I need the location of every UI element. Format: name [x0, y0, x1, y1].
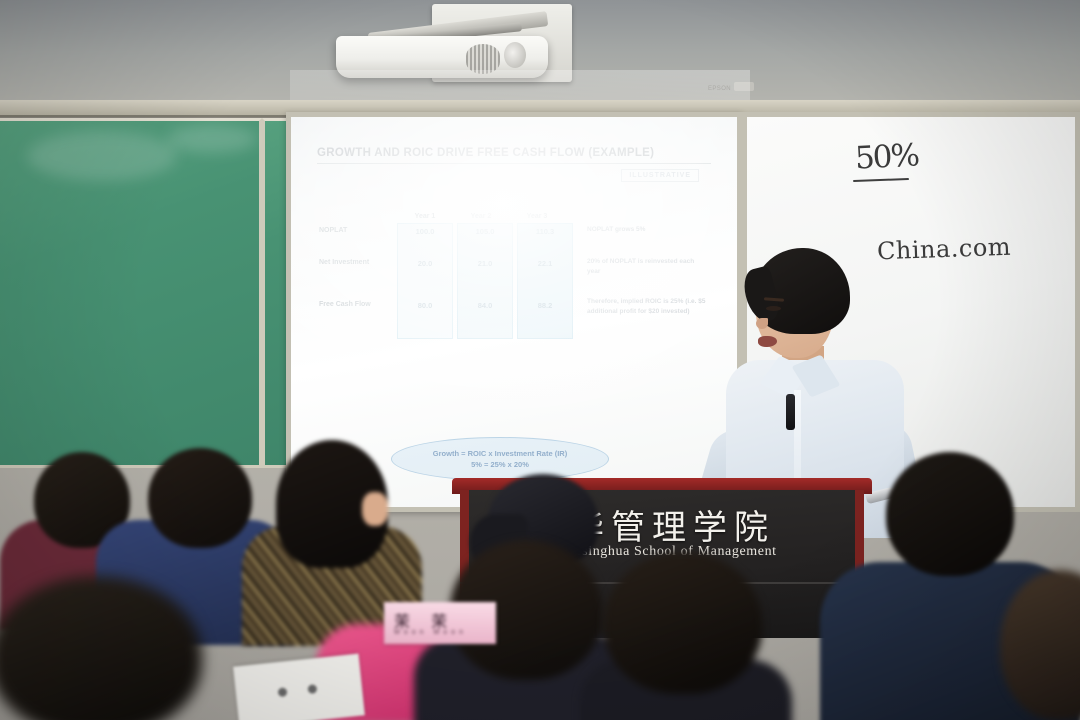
- cell-noplat-year2: 105.0: [457, 227, 513, 236]
- chalkboard-left: [0, 118, 262, 468]
- lecturer-eye: [766, 306, 781, 311]
- lecturer-nose: [756, 318, 768, 329]
- cell-netinv-year1: 20.0: [397, 259, 453, 268]
- audience-member-far-right: [1000, 570, 1080, 720]
- slide-table: Year 1 Year 2 Year 3 NOPLAT 100.0 105.0 …: [319, 213, 714, 329]
- name-card-english: Moon Moon: [394, 629, 467, 636]
- callout-line-1: Growth = ROIC x Investment Rate (IR): [433, 448, 567, 459]
- desk-name-card: 茉 茉 Moon Moon: [384, 602, 496, 644]
- table-row: Free Cash Flow 80.0 84.0 88.2 Therefore,…: [319, 287, 714, 329]
- column-header-year2: Year 2: [453, 213, 509, 220]
- note-free-cash-flow: Therefore, implied ROIC is 25% (i.e. $5 …: [587, 297, 707, 317]
- audience-hand: [362, 492, 388, 526]
- whiteboard-underline: [853, 178, 909, 182]
- cell-netinv-year3: 22.1: [517, 259, 573, 268]
- row-label-noplat: NOPLAT: [319, 227, 393, 234]
- table-row: Net Investment 20.0 21.0 22.1 20% of NOP…: [319, 255, 714, 287]
- audience-head: [604, 552, 762, 694]
- cell-fcf-year3: 88.2: [517, 301, 573, 310]
- note-noplat: NOPLAT grows 5%: [587, 225, 707, 235]
- cell-noplat-year1: 100.0: [397, 227, 453, 236]
- cell-fcf-year2: 84.0: [457, 301, 513, 310]
- whiteboard-note-percent: 50%: [854, 137, 919, 176]
- lapel-microphone-icon: [786, 394, 795, 430]
- table-row: NOPLAT 100.0 105.0 110.3 NOPLAT grows 5%: [319, 223, 714, 255]
- column-header-year3: Year 3: [509, 213, 565, 220]
- chalk-smudge: [27, 131, 177, 181]
- row-label-net-investment: Net Investment: [319, 259, 393, 266]
- hole-punch-icon: [278, 687, 288, 697]
- projector-panel: [734, 82, 754, 91]
- lecture-hall-photo: EPSON GROWTH AND ROIC DRIVE FREE CASH FL…: [0, 0, 1080, 720]
- row-label-free-cash-flow: Free Cash Flow: [319, 301, 393, 308]
- slide-table-header-row: Year 1 Year 2 Year 3: [319, 213, 714, 220]
- column-header-year1: Year 1: [397, 213, 453, 220]
- audience-head: [0, 576, 202, 720]
- projector-vent-icon: [466, 44, 500, 74]
- cell-netinv-year2: 21.0: [457, 259, 513, 268]
- illustrative-badge: ILLUSTRATIVE: [621, 169, 699, 182]
- note-net-investment: 20% of NOPLAT is reinvested each year: [587, 257, 707, 277]
- projector-lens-icon: [504, 42, 526, 68]
- slide-title: GROWTH AND ROIC DRIVE FREE CASH FLOW (EX…: [317, 147, 711, 159]
- cell-noplat-year3: 110.3: [517, 227, 573, 236]
- cell-fcf-year1: 80.0: [397, 301, 453, 310]
- audience-member-front-right: [590, 552, 780, 720]
- audience-head: [1000, 570, 1080, 720]
- audience-member-foreground-left: [0, 576, 220, 720]
- projector-brand-label: EPSON: [708, 86, 731, 92]
- hole-punch-icon: [307, 684, 317, 694]
- callout-line-2: 5% = 25% x 20%: [471, 459, 529, 470]
- chalk-smudge: [167, 125, 257, 153]
- audience-head: [886, 452, 1014, 576]
- audience-head: [148, 448, 252, 548]
- slide-table-body: NOPLAT 100.0 105.0 110.3 NOPLAT grows 5%…: [319, 223, 714, 329]
- slide-title-rule: [317, 163, 711, 164]
